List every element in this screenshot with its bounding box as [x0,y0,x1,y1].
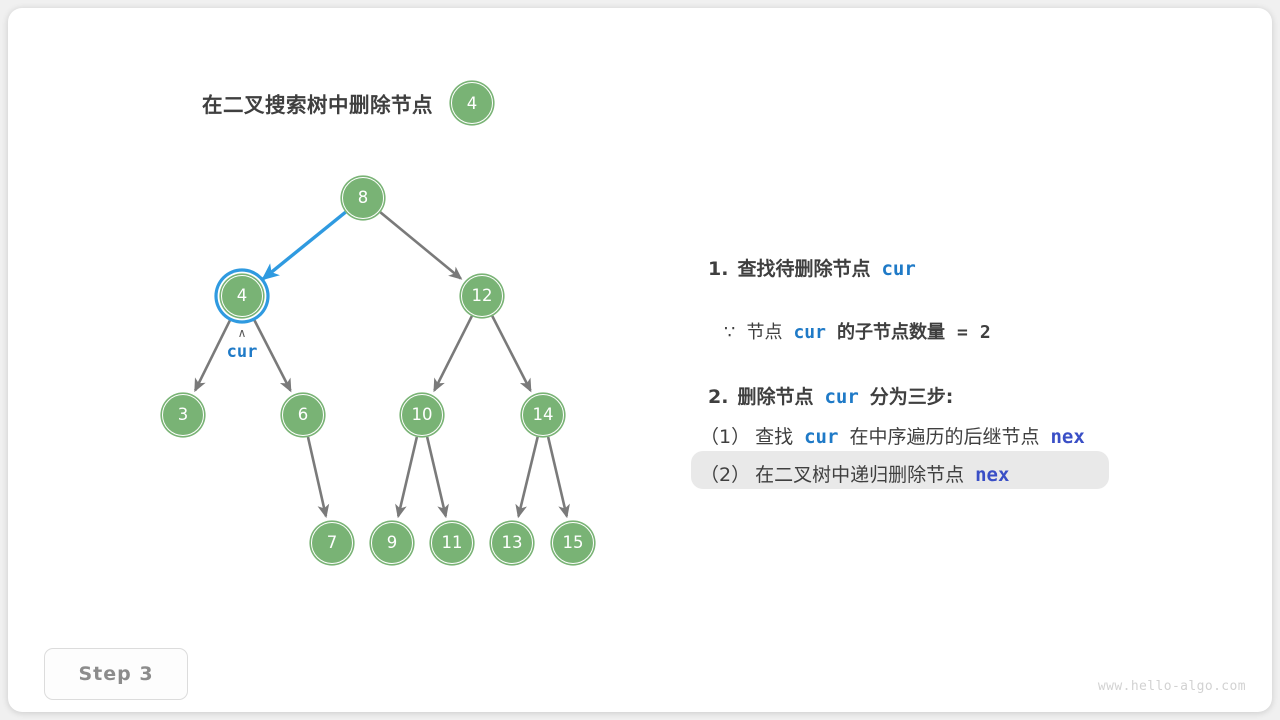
tree-node-9[interactable]: 9 [371,522,413,564]
tree-node-12[interactable]: 12 [461,275,503,317]
step-4-index: （1） [700,422,750,449]
tree-edge [492,316,530,391]
step-1-var-cur: cur [881,258,915,280]
tree-node-3[interactable]: 3 [162,394,204,436]
tree-edge [427,437,446,516]
tree-edge [434,316,471,390]
title-node-value: 4 [467,94,478,113]
tree-node-11[interactable]: 11 [431,522,473,564]
step-2-because-symbol: ∵ [724,322,735,343]
step-line-5: （2） 在二叉树中递归删除节点 nex [700,460,1009,487]
tree-node-value: 8 [358,190,369,207]
step-line-1: 1. 查找待删除节点 cur [708,254,916,281]
tree-node-14[interactable]: 14 [522,394,564,436]
cur-pointer-caret: ∧ [238,326,247,340]
step-2-var-cur: cur [793,322,826,343]
tree-node-value: 9 [387,535,398,552]
title-node-badge: 4 [451,82,493,124]
tree-node-4[interactable]: 4 [221,275,263,317]
tree-node-value: 11 [442,535,463,552]
tree-node-value: 10 [412,407,433,424]
tree-node-value: 13 [502,535,523,552]
tree-node-6[interactable]: 6 [282,394,324,436]
tree-node-15[interactable]: 15 [552,522,594,564]
step-line-4: （1） 查找 cur 在中序遍历的后继节点 nex [700,422,1085,449]
step-5-index: （2） [700,460,750,487]
tree-node-value: 4 [237,288,248,305]
step-1-index: 1. [708,258,728,280]
step-2-value: 2 [980,322,991,343]
step-3-text-a: 删除节点 [737,382,813,409]
step-2-equals: = [957,322,968,343]
tree-edge [380,212,460,278]
tree-node-10[interactable]: 10 [401,394,443,436]
step-2-text-a: 节点 [746,318,782,344]
page-title-text: 在二叉搜索树中删除节点 [202,88,433,118]
cur-pointer-label: cur [227,342,258,362]
tree-node-13[interactable]: 13 [491,522,533,564]
step-5-var-nex: nex [975,464,1009,486]
tree-edge [308,437,326,516]
tree-edge [252,316,290,391]
step-line-3: 2. 删除节点 cur 分为三步: [708,382,953,409]
tree-edge [548,437,567,516]
step-2-text-b: 的子节点数量 [837,318,945,344]
slide-card: 在二叉搜索树中删除节点 4 841236101479111315 ∧ cur 1… [8,8,1272,712]
tree-node-value: 12 [472,288,493,305]
step-4-text-a: 查找 [755,422,793,449]
tree-edge-layer [195,212,567,516]
tree-node-value: 6 [298,407,309,424]
step-4-var-nex: nex [1050,426,1084,448]
tree-node-value: 7 [327,535,338,552]
tree-edge [518,437,537,516]
tree-edge [263,212,345,279]
step-3-var-cur: cur [824,386,858,408]
binary-search-tree-diagram [8,8,1272,712]
step-badge-label: Step 3 [78,663,153,685]
step-4-text-b: 在中序遍历的后继节点 [849,422,1039,449]
step-line-2: ∵ 节点 cur 的子节点数量 = 2 [724,318,991,344]
tree-node-value: 14 [533,407,554,424]
step-2-index: 2. [708,386,728,408]
tree-node-7[interactable]: 7 [311,522,353,564]
page-title: 在二叉搜索树中删除节点 4 [202,82,493,124]
tree-edge [398,437,417,516]
step-1-text: 查找待删除节点 [737,254,870,281]
step-5-text-a: 在二叉树中递归删除节点 [755,460,964,487]
step-4-var-cur: cur [804,426,838,448]
tree-node-8[interactable]: 8 [342,177,384,219]
watermark: www.hello-algo.com [1098,679,1246,694]
tree-node-value: 3 [178,407,189,424]
tree-node-value: 15 [563,535,584,552]
step-badge: Step 3 [44,648,188,700]
step-3-text-b: 分为三步: [870,382,954,409]
